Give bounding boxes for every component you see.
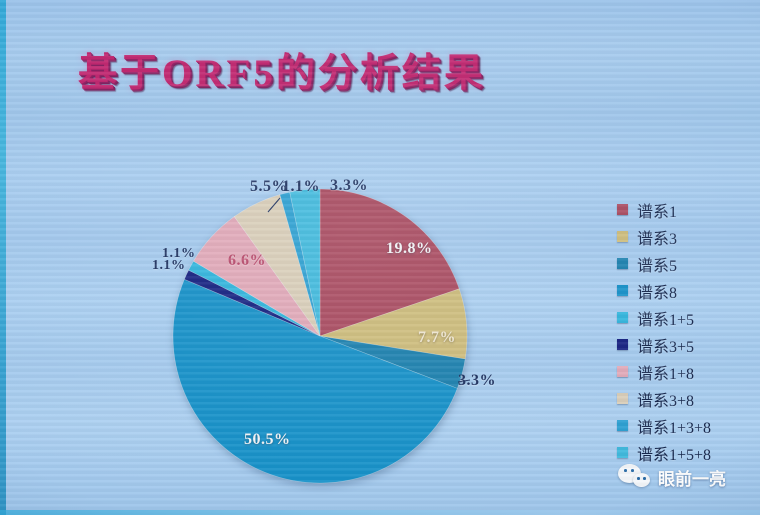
legend-swatch [617, 366, 628, 377]
watermark: 眼前一亮 [618, 464, 726, 490]
slide-left-edge [0, 0, 6, 515]
legend-item-label: 谱系3 [637, 225, 677, 249]
legend-item-label: 谱系1 [637, 198, 677, 222]
legend-item: 谱系1+3+8 [617, 412, 757, 439]
legend-item-label: 谱系1+3+8 [637, 414, 711, 438]
legend-item-label: 谱系3+8 [637, 387, 694, 411]
legend-item: 谱系1+8 [617, 358, 757, 385]
legend-swatch [617, 447, 628, 458]
chart-legend: 谱系1谱系3谱系5谱系8谱系1+5谱系3+5谱系1+8谱系3+8谱系1+3+8谱… [617, 196, 757, 466]
slice-label-6-6: 6.6% [228, 252, 266, 270]
presentation-slide: 基于ORF5的分析结果 19.8% 7.7% 3.3% 50.5% 1.1% 1… [0, 0, 760, 515]
slide-bottom-edge [0, 510, 760, 515]
slice-label-19-8: 19.8% [386, 240, 433, 258]
slice-label-1-1-top: 1.1% [282, 178, 320, 196]
legend-item: 谱系1+5 [617, 304, 757, 331]
pie-chart: 19.8% 7.7% 3.3% 50.5% 1.1% 1.1% 6.6% 5.5… [140, 186, 500, 486]
legend-item: 谱系8 [617, 277, 757, 304]
legend-swatch [617, 339, 628, 350]
legend-item: 谱系1+5+8 [617, 439, 757, 466]
slice-label-3-3-top: 3.3% [330, 177, 368, 195]
legend-swatch [617, 231, 628, 242]
legend-swatch [617, 420, 628, 431]
slice-label-7-7: 7.7% [418, 329, 456, 347]
slice-label-1-1-b: 1.1% [152, 258, 186, 274]
legend-item: 谱系5 [617, 250, 757, 277]
legend-swatch [617, 204, 628, 215]
legend-item: 谱系3 [617, 223, 757, 250]
page-title: 基于ORF5的分析结果 [78, 42, 486, 98]
legend-item-label: 谱系1+5 [637, 306, 694, 330]
slice-label-50-5: 50.5% [244, 431, 291, 449]
slice-label-3-3-right: 3.3% [458, 372, 496, 390]
legend-swatch [617, 393, 628, 404]
watermark-text: 眼前一亮 [658, 465, 726, 490]
legend-item: 谱系3+8 [617, 385, 757, 412]
legend-swatch [617, 285, 628, 296]
legend-swatch [617, 258, 628, 269]
legend-item: 谱系1 [617, 196, 757, 223]
legend-item-label: 谱系1+8 [637, 360, 694, 384]
legend-item-label: 谱系1+5+8 [637, 441, 711, 465]
legend-item-label: 谱系3+5 [637, 333, 694, 357]
legend-item-label: 谱系8 [637, 279, 677, 303]
wechat-icon [618, 464, 652, 490]
legend-item: 谱系3+5 [617, 331, 757, 358]
legend-swatch [617, 312, 628, 323]
legend-item-label: 谱系5 [637, 252, 677, 276]
